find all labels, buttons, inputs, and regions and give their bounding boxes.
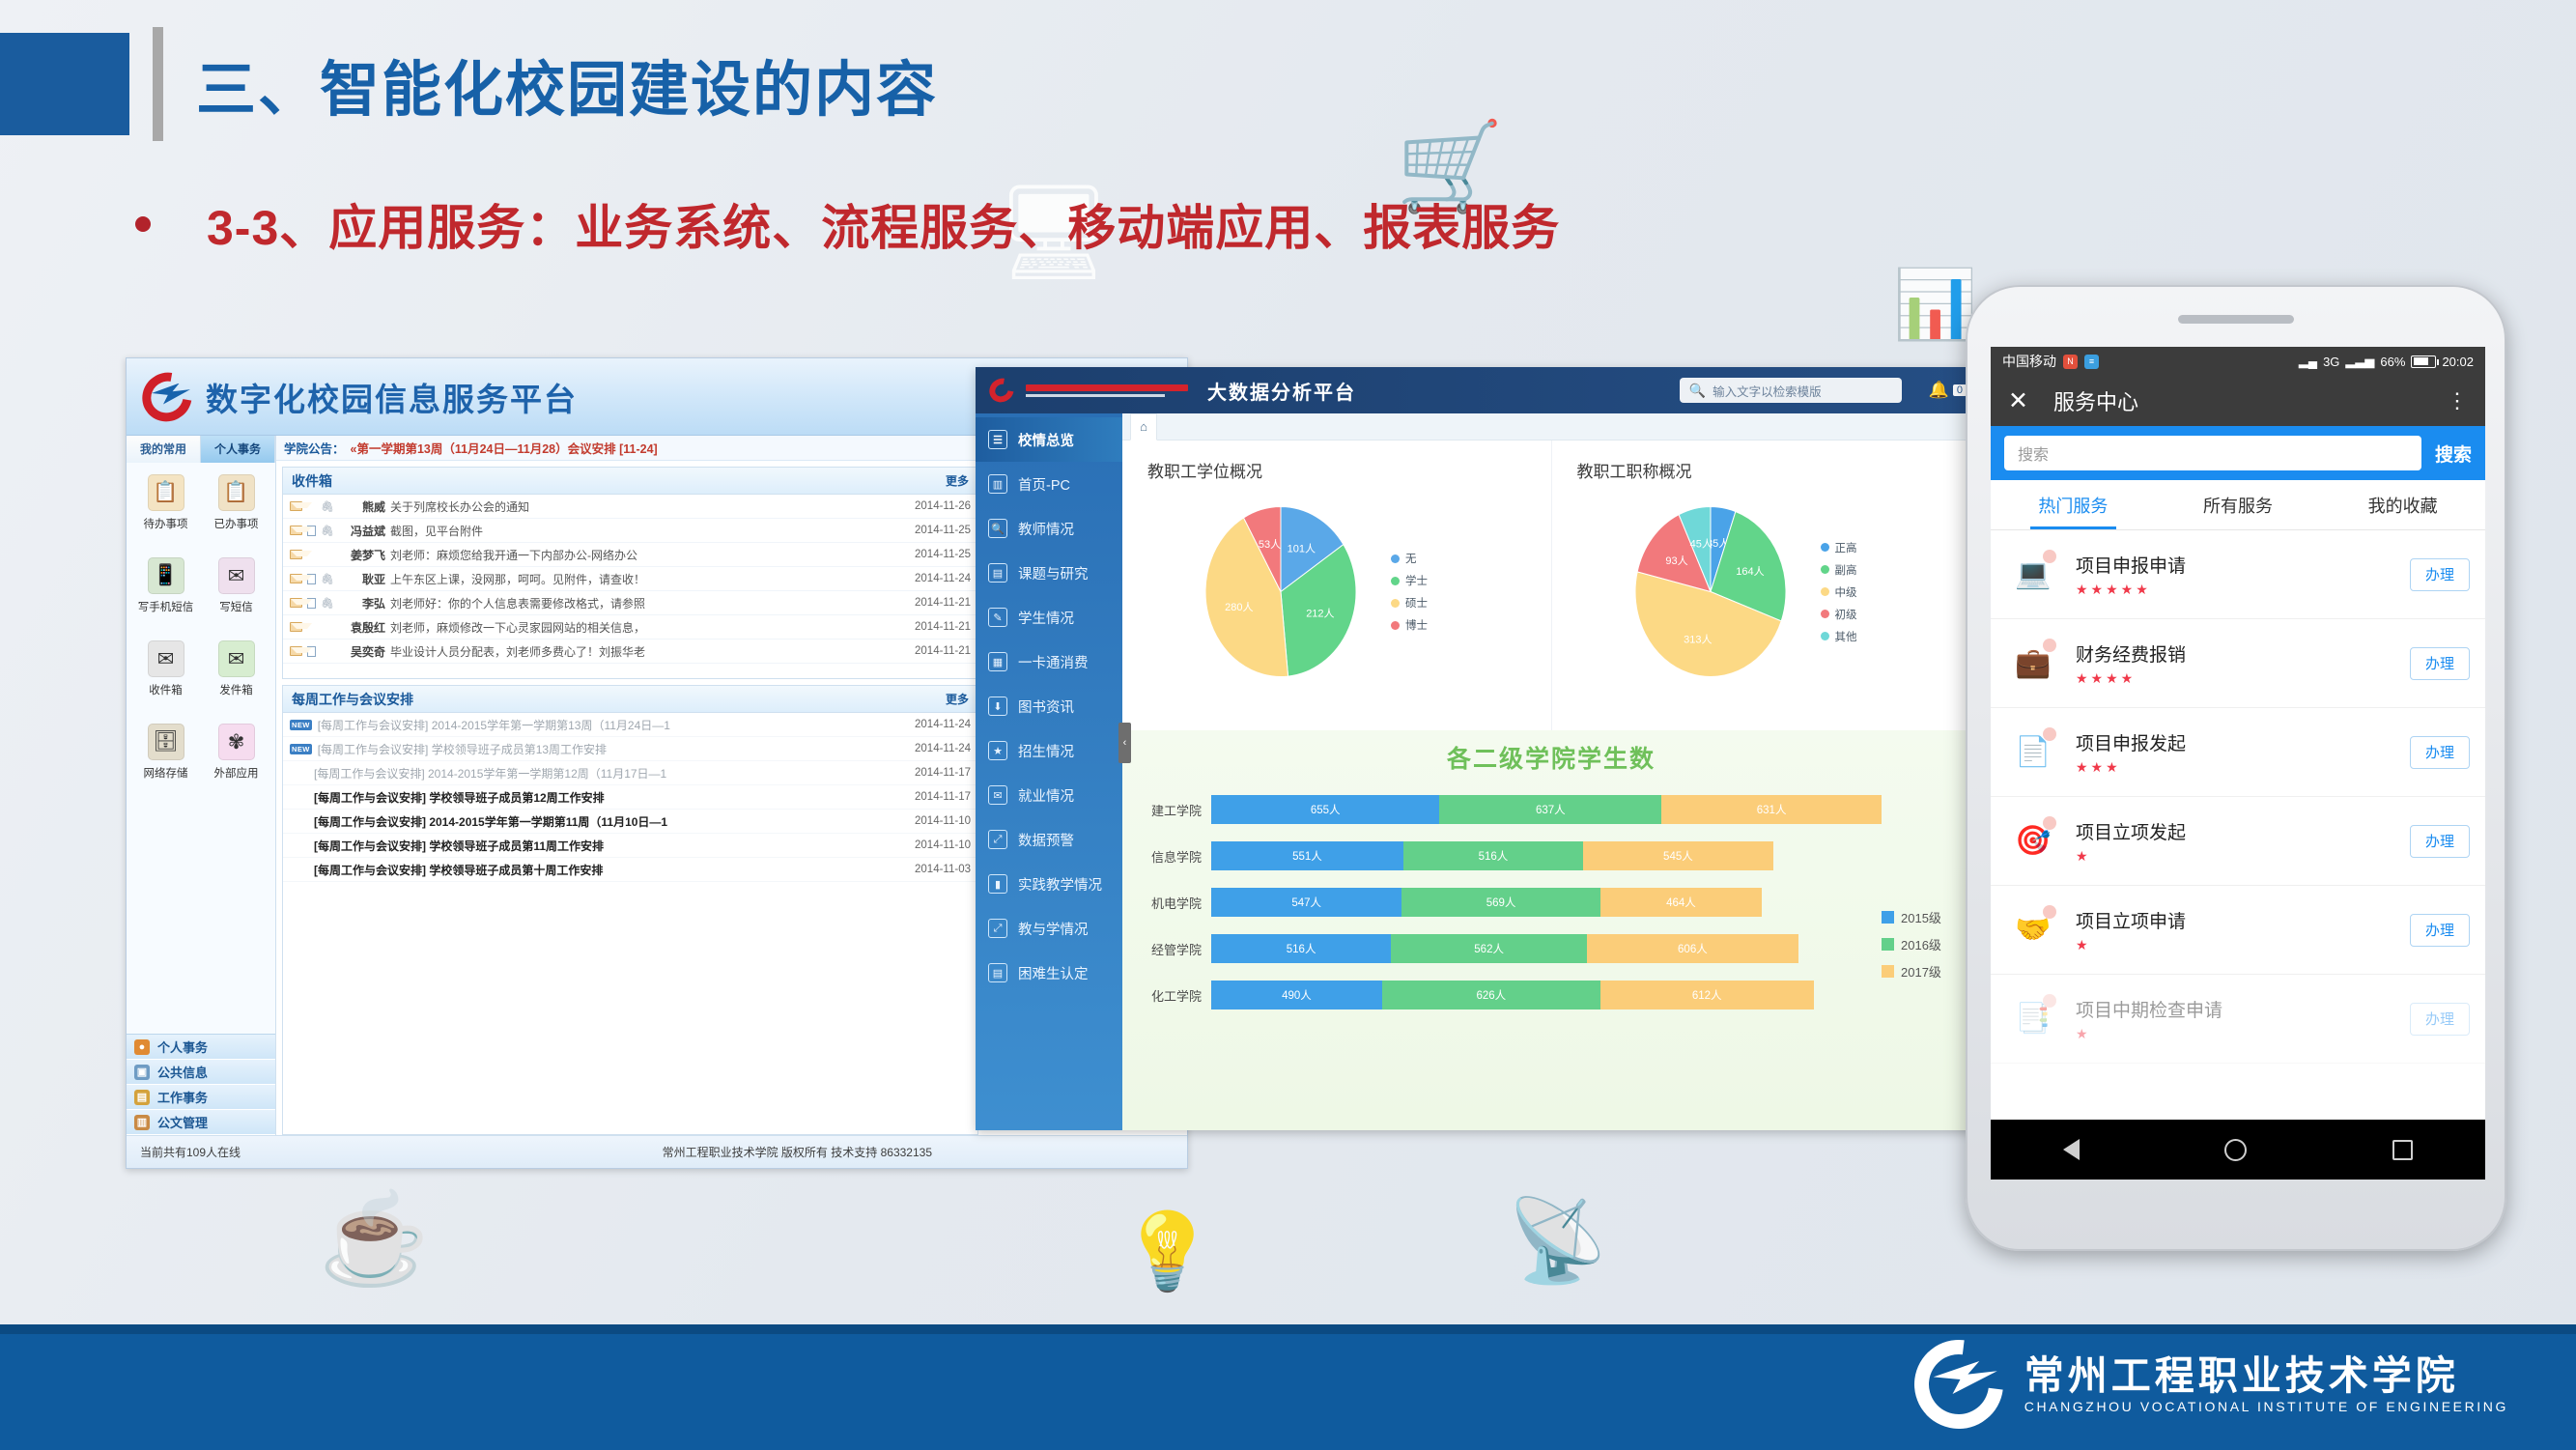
portal-quick-icons: 📋 待办事项 📋 已办事项 📱 写手机短信 ✉ 写短信 ✉ 收件箱 [127, 463, 275, 1034]
mail-sender: 冯益斌 [335, 523, 385, 539]
bar-segment[interactable]: 545人 [1583, 841, 1773, 870]
quick-icon-external-app[interactable]: ✾ 外部应用 [201, 724, 271, 807]
search-icon: 🔍 [988, 519, 1007, 538]
title-accent-rule [153, 27, 163, 141]
schedule-text: [每周工作与会议安排] 学校领导班子成员第11周工作安排 [314, 838, 909, 854]
service-name: 项目立项申请 [2076, 907, 2394, 933]
quick-icon-inbox[interactable]: ✉ 收件箱 [130, 640, 201, 724]
slide-title-bar: 三、智能化校园建设的内容 [0, 27, 938, 141]
bar-chart-rows: 建工学院655人637人631人信息学院551人516人545人机电学院547人… [1130, 786, 1882, 1018]
legend-item[interactable]: 初级 [1821, 607, 1857, 622]
legend-item[interactable]: 学士 [1391, 573, 1428, 588]
chart-watermark-icon: 📊 [1893, 266, 1977, 345]
sidebar-item-11[interactable]: ⤢教与学情况 [976, 906, 1122, 951]
sidebar-item-work-affairs[interactable]: ▤ 工作事务 [127, 1085, 275, 1110]
bar-track: 516人562人606人 [1211, 934, 1882, 963]
legend-swatch [1391, 621, 1400, 630]
page-subtitle: 3-3、应用服务：业务系统、流程服务、移动端应用、报表服务 [207, 189, 1560, 259]
sidebar-item-5[interactable]: ▦一卡通消费 [976, 640, 1122, 684]
service-name: 项目立项发起 [2076, 818, 2394, 844]
mail-sender: 吴奕奇 [335, 643, 385, 660]
schedule-text: [每周工作与会议安排] 学校领导班子成员第13周工作安排 [318, 741, 909, 757]
app-title: 服务中心 [2053, 385, 2138, 416]
legend-item[interactable]: 硕士 [1391, 595, 1428, 611]
quick-icon-label: 收件箱 [149, 682, 183, 697]
sidebar-item-personal-affairs[interactable]: ● 个人事务 [127, 1035, 275, 1060]
home-button[interactable] [2224, 1139, 2247, 1161]
bullet-icon [135, 216, 151, 232]
envelope-icon [290, 598, 302, 608]
pie-slice-value: 93人 [1665, 554, 1687, 567]
pencil-icon: ✎ [988, 608, 1007, 627]
mail-date: 2014-11-21 [915, 645, 971, 657]
mail-sender: 姜梦飞 [335, 547, 385, 563]
bar-track: 547人569人464人 [1211, 888, 1882, 917]
quick-icon-outbox[interactable]: ✉ 发件箱 [201, 640, 271, 724]
sidebar-item-7[interactable]: ★招生情况 [976, 728, 1122, 773]
service-action-button[interactable]: 办理 [2410, 647, 2470, 680]
bar-chart-icon: ▦ [988, 652, 1007, 671]
pie-chart-title-rank: 教职工职称概况 35人164人313人93人45人 正高副高中级初级其他 [1551, 441, 1981, 730]
target-dart-icon: 🎯 [2006, 816, 2060, 867]
mail-date: 2014-11-21 [915, 597, 971, 609]
portal-tabs: 我的常用 个人事务 [127, 436, 275, 463]
phone-search-bar: 搜索 搜索 [1991, 426, 2485, 480]
pie-1-svg: 101人212人280人53人 [1184, 488, 1377, 696]
list-item[interactable]: [每周工作与会议安排] 学校领导班子成员第11周工作安排2014-11-10 [283, 834, 977, 858]
wifi-icon: ▂▄ [2299, 354, 2317, 369]
sidebar-item-8[interactable]: ✉就业情况 [976, 773, 1122, 817]
new-badge: NEW [290, 720, 312, 730]
weekly-more-link[interactable]: 更多 [946, 691, 969, 707]
sidebar-item-3[interactable]: ▤课题与研究 [976, 551, 1122, 595]
bar-segment[interactable]: 562人 [1391, 934, 1587, 963]
bar-chart-row: 信息学院551人516人545人 [1130, 833, 1882, 879]
online-count: 当前共有109人在线 [140, 1144, 241, 1160]
star-icon: ★ [988, 741, 1007, 760]
service-action-button[interactable]: 办理 [2410, 825, 2470, 858]
bar-segment[interactable]: 516人 [1211, 934, 1391, 963]
bar-segment[interactable]: 464人 [1600, 888, 1762, 917]
school-logo-icon [1914, 1340, 2003, 1429]
external-app-icon: ✾ [218, 724, 255, 760]
tab-all-services[interactable]: 所有服务 [2156, 480, 2321, 529]
sidebar-item-label: 公文管理 [157, 1113, 208, 1131]
schedule-text: [每周工作与会议安排] 2014-2015学年第一学期第12周（11月17日—1 [314, 765, 909, 782]
quick-icon-write-sms[interactable]: 📱 写手机短信 [130, 557, 201, 640]
bar-category-label: 化工学院 [1130, 986, 1211, 1005]
mobile-app-screenshot: 中国移动 N ≡ ▂▄ 3G ▂▃▅ 66% 20:02 ✕ 服务中心 ⋮ 搜索… [1966, 285, 2506, 1251]
legend-item[interactable]: 无 [1391, 551, 1428, 566]
info-board-icon: ▣ [134, 1065, 150, 1080]
phone-service-list: 💻项目申报申请★★★★★办理💼财务经费报销★★★★办理📄项目申报发起★★★办理🎯… [1991, 530, 2485, 1064]
title-accent-square [0, 33, 129, 135]
bar-segment[interactable]: 631人 [1661, 795, 1882, 824]
legend-swatch [1391, 554, 1400, 563]
bar-segment[interactable]: 490人 [1211, 981, 1382, 1009]
mail-subject: 上午东区上课，没网那，呵呵。见附件，请查收！ [390, 571, 910, 587]
sidebar-item-12[interactable]: ▤困难生认定 [976, 951, 1122, 995]
inbox-panel: 收件箱 更多 🖇熊威关于列席校长办公会的通知2014-11-26🖇冯益斌截图，见… [282, 467, 978, 679]
pie-slice-value: 280人 [1225, 601, 1253, 613]
quick-icon-label: 写手机短信 [138, 599, 194, 614]
weekly-schedule-panel: 每周工作与会议安排 更多 NEW[每周工作与会议安排] 2014-2015学年第… [282, 685, 978, 1135]
sidebar-item-label: 校情总览 [1018, 430, 1074, 450]
carrier-label: 中国移动 [2002, 352, 2056, 371]
page-title: 三、智能化校园建设的内容 [196, 41, 938, 128]
search-icon: 🔍 [1689, 383, 1706, 399]
portal-title: 数字化校园信息服务平台 [206, 374, 578, 420]
mail-subject: 关于列席校长办公会的通知 [390, 498, 910, 515]
briefcase-coin-icon: 💼 [2006, 639, 2060, 689]
bar-segment[interactable]: 637人 [1439, 795, 1661, 824]
bar-segment[interactable]: 655人 [1211, 795, 1439, 824]
document-icon: ▥ [134, 1115, 150, 1130]
list-item[interactable]: [每周工作与会议安排] 学校领导班子成员第12周工作安排2014-11-17 [283, 785, 977, 810]
sidebar-item-10[interactable]: ▮实践教学情况 [976, 862, 1122, 906]
list-icon: ☰ [988, 430, 1007, 449]
sidebar-item-label: 个人事务 [157, 1038, 208, 1056]
pie-slice-value: 164人 [1736, 565, 1764, 578]
phone-earpiece [1967, 287, 2505, 351]
bar-category-label: 信息学院 [1130, 847, 1211, 866]
bar-track: 551人516人545人 [1211, 841, 1882, 870]
legend-label: 2017级 [1901, 962, 1941, 981]
schedule-date: 2014-11-24 [915, 743, 971, 754]
sidebar-item-label: 教师情况 [1018, 519, 1074, 539]
new-badge: NEW [290, 744, 312, 754]
sidebar-item-label: 图书资讯 [1018, 697, 1074, 717]
inbox-icon: ✉ [148, 640, 184, 677]
bdp-header: 大数据分析平台 🔍 输入文字以检索模版 🔔 0 [976, 367, 1980, 413]
legend-swatch [1882, 965, 1894, 978]
table-row[interactable]: 姜梦飞刘老师：麻烦您给我开通一下内部办公-网络办公2014-11-25 [283, 543, 977, 567]
mail-date: 2014-11-25 [915, 549, 971, 560]
legend-swatch [1821, 543, 1829, 552]
legend-swatch [1821, 632, 1829, 640]
legend-item[interactable]: 中级 [1821, 584, 1857, 600]
mobile-sms-icon: 📱 [148, 557, 184, 594]
pie-2-legend: 正高副高中级初级其他 [1821, 540, 1857, 644]
mail-subject: 截图，见平台附件 [390, 523, 910, 539]
expand-icon: ⤢ [988, 919, 1007, 938]
book-icon: ▤ [988, 563, 1007, 583]
home-icon[interactable]: ⌂ [1130, 413, 1157, 441]
envelope-icon [290, 574, 302, 583]
service-name: 财务经费报销 [2076, 640, 2394, 667]
portal-footer: 当前共有109人在线 常州工程职业技术学院 版权所有 技术支持 86332135 [127, 1135, 1187, 1168]
search-input[interactable]: 搜索 [2004, 436, 2421, 470]
bar-segment[interactable]: 569人 [1401, 888, 1599, 917]
clock-label: 20:02 [2442, 355, 2474, 369]
sidebar-item-9[interactable]: ⤢数据预警 [976, 817, 1122, 862]
bar-chart-row: 经管学院516人562人606人 [1130, 925, 1882, 972]
list-item[interactable]: NEW[每周工作与会议安排] 2014-2015学年第一学期第13周（11月24… [283, 713, 977, 737]
legend-item[interactable]: 博士 [1391, 617, 1428, 633]
schedule-text: [每周工作与会议安排] 学校领导班子成员第十周工作安排 [314, 862, 909, 878]
bar-segment[interactable]: 612人 [1600, 981, 1814, 1009]
legend-swatch [1391, 599, 1400, 608]
quick-icon-todo[interactable]: 📋 待办事项 [130, 474, 201, 557]
legend-item[interactable]: 其他 [1821, 629, 1857, 644]
quick-icon-label: 外部应用 [214, 765, 259, 781]
announcement-label: 学院公告： [284, 439, 345, 457]
quick-icon-label: 写短信 [219, 599, 253, 614]
schedule-text: [每周工作与会议安排] 2014-2015学年第一学期第13周（11月24日—1 [318, 717, 909, 733]
schedule-date: 2014-11-03 [915, 864, 971, 875]
speaker-grille [2178, 315, 2294, 324]
inbox-title: 收件箱 [292, 471, 332, 491]
pie-1-title: 教职工学位概况 [1147, 458, 1551, 482]
recents-button[interactable] [2392, 1140, 2413, 1160]
worklist-icon: ▤ [134, 1090, 150, 1105]
bdp-sidebar: ☰校情总览▥首页-PC🔍教师情况▤课题与研究✎学生情况▦一卡通消费⬇图书资讯★招… [976, 413, 1122, 1130]
mail-date: 2014-11-21 [915, 621, 971, 633]
pie-slice-value: 53人 [1259, 538, 1281, 551]
pie-2-title: 教职工职称概况 [1577, 458, 1981, 482]
service-list-item[interactable]: 💼财务经费报销★★★★办理 [1991, 619, 2485, 708]
phone-tabs: 热门服务 所有服务 我的收藏 [1991, 480, 2485, 530]
schedule-text: [每周工作与会议安排] 学校领导班子成员第12周工作安排 [314, 789, 909, 806]
bar-track: 490人626人612人 [1211, 981, 1882, 1009]
bar-segment[interactable]: 626人 [1382, 981, 1600, 1009]
notification-dot [2043, 727, 2056, 741]
bdp-tabbar: ⌂ [1122, 413, 1980, 441]
person-icon: ● [134, 1039, 150, 1055]
legend-label: 2016级 [1901, 935, 1941, 953]
envelope-icon [290, 622, 302, 632]
sidebar-item-document-mgmt[interactable]: ▥ 公文管理 [127, 1110, 275, 1135]
bar-track: 655人637人631人 [1211, 795, 1882, 824]
legend-item[interactable]: 副高 [1821, 562, 1857, 578]
clipboard-add-icon: 📋 [148, 474, 184, 511]
legend-swatch [1821, 587, 1829, 596]
announcement-marquee[interactable]: «第一学期第13周（11月24日—11月28）会议安排 [11-24] [351, 439, 658, 457]
sidebar-item-label: 数据预警 [1018, 830, 1074, 850]
legend-label: 硕士 [1405, 595, 1428, 611]
institute-logo: 常州工程职业技术学院 CHANGZHOU VOCATIONAL INSTITUT… [1914, 1340, 2508, 1429]
sidebar-item-6[interactable]: ⬇图书资讯 [976, 684, 1122, 728]
inbox-more-link[interactable]: 更多 [946, 472, 969, 489]
close-icon[interactable]: ✕ [2008, 386, 2028, 415]
more-vertical-icon[interactable]: ⋮ [2447, 395, 2468, 407]
quick-icon-label: 网络存储 [144, 765, 188, 781]
legend-label: 学士 [1405, 573, 1428, 588]
sidebar-item-label: 首页-PC [1018, 474, 1070, 495]
checklist-icon: 📑 [2006, 994, 2060, 1044]
envelope-icon [290, 526, 302, 535]
satellite-watermark-icon: 📡 [1507, 1193, 1608, 1289]
sidebar-item-label: 公共信息 [157, 1063, 208, 1081]
institute-name-cn: 常州工程职业技术学院 [2024, 1354, 2508, 1399]
schedule-date: 2014-11-17 [915, 767, 971, 779]
pie-1-legend: 无学士硕士博士 [1391, 551, 1428, 633]
bdp-title: 大数据分析平台 [1207, 377, 1356, 405]
sidebar-item-public-info[interactable]: ▣ 公共信息 [127, 1060, 275, 1085]
phone-screen: 中国移动 N ≡ ▂▄ 3G ▂▃▅ 66% 20:02 ✕ 服务中心 ⋮ 搜索… [1991, 347, 2485, 1120]
list-item[interactable]: [每周工作与会议安排] 2014-2015学年第一学期第12周（11月17日—1… [283, 761, 977, 785]
sidebar-item-label: 就业情况 [1018, 785, 1074, 806]
pie-2-svg: 35人164人313人93人45人 [1614, 488, 1807, 696]
sidebar-item-label: 困难生认定 [1018, 963, 1089, 983]
paperclip-icon: 🖇 [321, 500, 330, 513]
bdp-search-input[interactable]: 🔍 输入文字以检索模版 [1680, 378, 1902, 403]
paperclip-icon: 🖇 [321, 597, 330, 610]
sidebar-item-label: 实践教学情况 [1018, 874, 1102, 895]
mail-date: 2014-11-24 [915, 573, 971, 584]
quick-icon-label: 待办事项 [144, 516, 188, 531]
table-row[interactable]: 🖇耿亚上午东区上课，没网那，呵呵。见附件，请查收！2014-11-24 [283, 567, 977, 591]
download-icon: ⬇ [988, 697, 1007, 716]
tab-hot-services[interactable]: 热门服务 [1991, 480, 2156, 529]
legend-item[interactable]: 2016级 [1882, 935, 1965, 953]
table-row[interactable]: 🖇熊威关于列席校长办公会的通知2014-11-26 [283, 495, 977, 519]
mail-date: 2014-11-26 [915, 500, 971, 512]
notification-dot [2043, 905, 2056, 919]
service-action-button[interactable]: 办理 [2410, 736, 2470, 769]
report-clip-icon: 📄 [2006, 727, 2060, 778]
legend-label: 副高 [1835, 562, 1857, 578]
expand-icon: ⤢ [988, 830, 1007, 849]
bar-segment[interactable]: 547人 [1211, 888, 1401, 917]
pie-slice-value: 313人 [1684, 633, 1712, 645]
sidebar-item-2[interactable]: 🔍教师情况 [976, 506, 1122, 551]
notification-dot [2043, 550, 2056, 563]
tab-personal-affairs[interactable]: 个人事务 [201, 436, 275, 463]
bdp-content-area: ⌂ 教职工学位概况 101人212人280人53人 无学士硕士博士 [1122, 413, 1980, 1130]
legend-label: 2015级 [1901, 908, 1941, 926]
back-button[interactable] [2063, 1139, 2080, 1160]
app-notification-icon-2: ≡ [2084, 355, 2099, 369]
list-item[interactable]: [每周工作与会议安排] 2014-2015学年第一学期第11周（11月10日—1… [283, 810, 977, 834]
table-row[interactable]: 🖇冯益斌截图，见平台附件2014-11-25 [283, 519, 977, 543]
quick-icon-done[interactable]: 📋 已办事项 [201, 474, 271, 557]
schedule-date: 2014-11-24 [915, 719, 971, 730]
list-item[interactable]: [每周工作与会议安排] 学校领导班子成员第十周工作安排2014-11-03 [283, 858, 977, 882]
legend-item[interactable]: 2017级 [1882, 962, 1965, 981]
mail-sender: 袁殷红 [335, 619, 385, 636]
mail-subject: 刘老师，麻烦修改一下心灵家园网站的相关信息， [390, 619, 910, 636]
quick-icon-label: 发件箱 [219, 682, 253, 697]
paperclip-icon: 🖇 [321, 525, 330, 537]
sidebar-item-1[interactable]: ▥首页-PC [976, 462, 1122, 506]
quick-icon-write-mail[interactable]: ✉ 写短信 [201, 557, 271, 640]
legend-item[interactable]: 2015级 [1882, 908, 1965, 926]
service-name: 项目中期检查申请 [2076, 996, 2394, 1022]
bdp-charts-area: 教职工学位概况 101人212人280人53人 无学士硕士博士 教职工职称概况 [1122, 441, 1980, 1130]
envelope-icon [290, 501, 302, 511]
quick-icon-label: 已办事项 [214, 516, 259, 531]
battery-percent: 66% [2380, 355, 2405, 369]
service-name: 项目申报发起 [2076, 729, 2394, 755]
list-item[interactable]: NEW[每周工作与会议安排] 学校领导班子成员第13周工作安排2014-11-2… [283, 737, 977, 761]
envelope-icon: ✉ [988, 785, 1007, 805]
bar-segment[interactable]: 551人 [1211, 841, 1403, 870]
bar-chart-panel: 各二级学院学生数 建工学院655人637人631人信息学院551人516人545… [1122, 730, 1980, 1130]
network-storage-icon: 🗄 [148, 724, 184, 760]
legend-label: 中级 [1835, 584, 1857, 600]
mail-subject: 毕业设计人员分配表，刘老师多费心了！刘振华老 [390, 643, 910, 660]
mail-sender: 熊威 [335, 498, 385, 515]
schedule-date: 2014-11-10 [915, 815, 971, 827]
service-list-item[interactable]: 🎯项目立项发起★办理 [1991, 797, 2485, 886]
quick-icon-network-storage[interactable]: 🗄 网络存储 [130, 724, 201, 807]
phone-status-bar: 中国移动 N ≡ ▂▄ 3G ▂▃▅ 66% 20:02 [1991, 347, 2485, 376]
service-action-button[interactable]: 办理 [2410, 558, 2470, 591]
bar-segment[interactable]: 516人 [1403, 841, 1583, 870]
pie-slice-value: 101人 [1288, 542, 1316, 554]
sidebar-item-label: 教与学情况 [1018, 919, 1089, 939]
compose-mail-icon: ✉ [218, 557, 255, 594]
sidebar-item-4[interactable]: ✎学生情况 [976, 595, 1122, 640]
table-row[interactable]: 袁殷红刘老师，麻烦修改一下心灵家园网站的相关信息，2014-11-21 [283, 615, 977, 640]
laptop-mail-icon: 💻 [2006, 550, 2060, 600]
service-list-item[interactable]: 💻项目申报申请★★★★★办理 [1991, 530, 2485, 619]
search-placeholder: 输入文字以检索模版 [1713, 382, 1822, 400]
bar-category-label: 机电学院 [1130, 894, 1211, 912]
service-list-item[interactable]: 📑项目中期检查申请★办理 [1991, 975, 2485, 1064]
service-rating-stars: ★★★ [2076, 759, 2394, 776]
service-list-item[interactable]: 🤝项目立项申请★办理 [1991, 886, 2485, 975]
sidebar-item-0[interactable]: ☰校情总览 [976, 417, 1122, 462]
mail-sender: 耿亚 [335, 571, 385, 587]
cup-watermark-icon: ☕ [319, 1188, 430, 1292]
table-row[interactable]: 🖇李弘刘老师好：你的个人信息表需要修改格式，请参照2014-11-21 [283, 591, 977, 615]
service-action-button[interactable]: 办理 [2410, 1003, 2470, 1036]
copyright-text: 常州工程职业技术学院 版权所有 技术支持 86332135 [663, 1144, 932, 1160]
battery-icon [2411, 355, 2436, 368]
table-row[interactable]: 吴奕奇毕业设计人员分配表，刘老师多费心了！刘振华老2014-11-21 [283, 640, 977, 664]
pie-chart-degree: 教职工学位概况 101人212人280人53人 无学士硕士博士 [1122, 441, 1551, 730]
bell-icon: 🔔 [1929, 381, 1949, 400]
bookmark-icon: ▮ [988, 874, 1007, 894]
legend-item[interactable]: 正高 [1821, 540, 1857, 555]
envelope-icon [290, 550, 302, 559]
schedule-date: 2014-11-17 [915, 791, 971, 803]
legend-swatch [1821, 610, 1829, 618]
service-rating-stars: ★ [2076, 1026, 2394, 1042]
notification-bell[interactable]: 🔔 0 [1929, 381, 1967, 400]
search-button[interactable]: 搜索 [2435, 441, 2472, 467]
portal-sidebar-menu: ● 个人事务 ▣ 公共信息 ▤ 工作事务 ▥ 公文管理 [127, 1034, 275, 1135]
schedule-text: [每周工作与会议安排] 2014-2015学年第一学期第11周（11月10日—1 [314, 813, 909, 830]
bar-chart-row: 建工学院655人637人631人 [1130, 786, 1882, 833]
institute-name-en: CHANGZHOU VOCATIONAL INSTITUTE OF ENGINE… [2024, 1399, 2508, 1414]
bar-category-label: 建工学院 [1130, 801, 1211, 819]
legend-label: 正高 [1835, 540, 1857, 555]
clipboard-check-icon: 📋 [218, 474, 255, 511]
service-action-button[interactable]: 办理 [2410, 914, 2470, 947]
service-rating-stars: ★ [2076, 848, 2394, 865]
service-list-item[interactable]: 📄项目申报发起★★★办理 [1991, 708, 2485, 797]
legend-label: 初级 [1835, 607, 1857, 622]
notification-dot [2043, 639, 2056, 652]
mail-subject: 刘老师好：你的个人信息表需要修改格式，请参照 [390, 595, 910, 611]
weekly-list: NEW[每周工作与会议安排] 2014-2015学年第一学期第13周（11月24… [283, 713, 977, 1134]
sidebar-item-label: 招生情况 [1018, 741, 1074, 761]
tab-my-favorites[interactable]: 我的常用 [127, 436, 201, 463]
sidebar-item-label: 工作事务 [157, 1088, 208, 1106]
service-rating-stars: ★★★★ [2076, 670, 2394, 687]
bar-segment[interactable]: 606人 [1587, 934, 1798, 963]
big-data-platform-screenshot: 大数据分析平台 🔍 输入文字以检索模版 🔔 0 ☰校情总览▥首页-PC🔍教师情况… [976, 367, 1980, 1130]
tab-my-favorites[interactable]: 我的收藏 [2320, 480, 2485, 529]
bar-chart-title: 各二级学院学生数 [1122, 740, 1980, 775]
sidebar-item-label: 学生情况 [1018, 608, 1074, 628]
bar-chart-legend: 2015级2016级2017级 [1882, 786, 1965, 1018]
legend-swatch [1882, 938, 1894, 951]
mail-date: 2014-11-25 [915, 525, 971, 536]
